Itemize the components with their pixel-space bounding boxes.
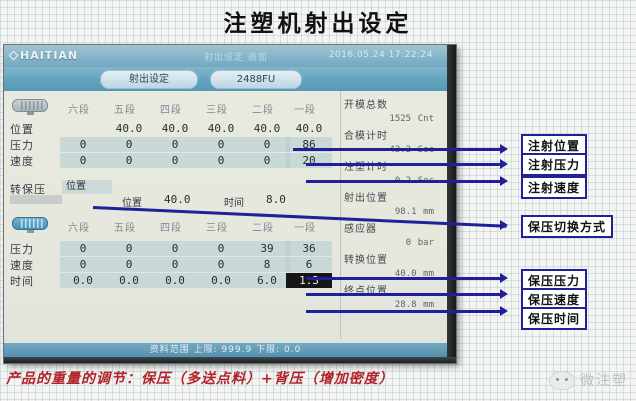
switchover-position-value[interactable]: 40.0 [164, 193, 191, 206]
hold-pressure-cell-5[interactable]: 0 [106, 241, 152, 256]
hold-pressure-cell-4[interactable]: 0 [152, 241, 198, 256]
info-label-1: 合模计时 [344, 127, 444, 142]
haitian-logo: HAITIAN [10, 49, 78, 62]
leader-arrow-6 [500, 306, 508, 316]
hold-speed-cell-2[interactable]: 8 [244, 257, 290, 272]
info-label-5: 转换位置 [344, 251, 444, 266]
leader-line-1 [306, 163, 500, 166]
info-value-0: 1525 Cnt [344, 111, 444, 124]
hold-col-3: 三段 [206, 219, 228, 234]
switchover-mode-select[interactable]: 位置 [62, 180, 112, 194]
leader-line-2 [306, 180, 500, 183]
hold-pressure-cell-2[interactable]: 39 [244, 241, 290, 256]
hold-speed-cell-4[interactable]: 0 [152, 257, 198, 272]
leader-arrow-0 [500, 144, 508, 154]
hold-time-cell-2[interactable]: 6.0 [244, 273, 290, 288]
panel-divider [340, 91, 341, 339]
info-value-3: 98.1 mm [344, 204, 444, 217]
inj-row-label-speed: 速度 [10, 153, 34, 169]
leader-line-0 [293, 148, 500, 151]
leader-line-4 [306, 277, 500, 280]
bottom-caption: 产品的重量的调节：保压（多送点料）+背压（增加密度） [6, 368, 394, 388]
inj-pressure-cell-4[interactable]: 0 [152, 137, 198, 152]
inj-position-cell-1[interactable]: 40.0 [286, 121, 332, 136]
callout-injection-pressure: 注射压力 [521, 153, 587, 176]
callout-holding-switchover-mode: 保压切换方式 [521, 215, 613, 238]
hold-row-label-pressure: 压力 [10, 241, 34, 257]
leader-line-6 [306, 310, 500, 313]
leader-arrow-2 [500, 176, 508, 186]
inj-col-3: 三段 [206, 101, 228, 116]
tab-injection-settings[interactable]: 射出设定 [100, 70, 198, 89]
inj-speed-cell-4[interactable]: 0 [152, 153, 198, 168]
inj-position-cell-4[interactable]: 40.0 [152, 121, 198, 136]
inj-col-6: 六段 [68, 101, 90, 116]
info-value-4: 0 bar [344, 235, 444, 248]
hold-speed-cell-6[interactable]: 0 [60, 257, 106, 272]
screen-bezel-bottom [4, 357, 456, 363]
tab-machine-model[interactable]: 2488FU [210, 70, 302, 89]
inj-pressure-cell-6[interactable]: 0 [60, 137, 106, 152]
leader-arrow-4 [500, 273, 508, 283]
hold-speed-cell-3[interactable]: 0 [198, 257, 244, 272]
inj-speed-cell-6[interactable]: 0 [60, 153, 106, 168]
hmi-content-area: 六段 五段 四段 三段 二段 一段 位置 压力 速度 40.0 40.0 40.… [4, 91, 447, 357]
inj-position-cell-5[interactable]: 40.0 [106, 121, 152, 136]
leader-arrow-5 [500, 289, 508, 299]
callout-injection-speed: 注射速度 [521, 176, 587, 199]
inj-speed-cell-5[interactable]: 0 [106, 153, 152, 168]
info-label-0: 开模总数 [344, 96, 444, 111]
switchover-sub-band [10, 195, 62, 204]
hold-pressure-cell-6[interactable]: 0 [60, 241, 106, 256]
hold-pressure-cell-1[interactable]: 36 [286, 241, 332, 256]
inj-pressure-cell-5[interactable]: 0 [106, 137, 152, 152]
hold-time-cell-4[interactable]: 0.0 [152, 273, 198, 288]
hold-pressure-cell-3[interactable]: 0 [198, 241, 244, 256]
hmi-header-bar: HAITIAN 射出设定 画面 2016.05.24 17:22:24 [4, 45, 447, 67]
watermark: 微注塑 [549, 370, 628, 390]
hold-col-2: 二段 [252, 219, 274, 234]
hold-time-cell-5[interactable]: 0.0 [106, 273, 152, 288]
inj-position-cell-3[interactable]: 40.0 [198, 121, 244, 136]
diamond-logo-icon [9, 51, 19, 61]
leader-arrow-1 [500, 159, 508, 169]
inj-row-label-position: 位置 [10, 121, 34, 137]
screw-barrel-icon-active [12, 217, 48, 230]
hold-time-cell-3[interactable]: 0.0 [198, 273, 244, 288]
status-bar: 资料范围 上限: 999.9 下限: 0.0 [4, 343, 447, 357]
inj-position-cell-2[interactable]: 40.0 [244, 121, 290, 136]
info-label-3: 射出位置 [344, 189, 444, 204]
screen-bezel-right [447, 45, 456, 363]
hmi-screen-photo: HAITIAN 射出设定 画面 2016.05.24 17:22:24 射出设定… [4, 45, 456, 363]
hmi-tab-bar: 射出设定 2488FU [4, 67, 447, 91]
page-title: 注塑机射出设定 [0, 4, 636, 38]
hold-speed-cell-1[interactable]: 6 [286, 257, 332, 272]
inj-speed-cell-2[interactable]: 0 [244, 153, 290, 168]
leader-arrow-3 [500, 220, 508, 230]
hold-row-label-time: 时间 [10, 273, 34, 289]
header-datetime: 2016.05.24 17:22:24 [329, 50, 433, 60]
callout-holding-time: 保压时间 [521, 307, 587, 330]
info-value-6: 28.8 mm [344, 297, 444, 310]
inj-position-cell-6[interactable] [60, 121, 106, 136]
leader-line-5 [306, 293, 500, 296]
hold-col-4: 四段 [160, 219, 182, 234]
hold-time-cell-1-selected[interactable]: 1.3 [286, 273, 332, 288]
watermark-text: 微注塑 [580, 370, 628, 390]
inj-col-5: 五段 [114, 101, 136, 116]
switchover-time-value[interactable]: 8.0 [266, 193, 286, 206]
hold-col-5: 五段 [114, 219, 136, 234]
switchover-time-label: 时间 [224, 194, 244, 209]
inj-speed-cell-3[interactable]: 0 [198, 153, 244, 168]
inj-pressure-cell-3[interactable]: 0 [198, 137, 244, 152]
page-background: 注塑机射出设定 HAITIAN 射出设定 画面 2016.05.24 17:22… [0, 0, 636, 401]
inj-col-4: 四段 [160, 101, 182, 116]
inj-col-2: 二段 [252, 101, 274, 116]
inj-col-1: 一段 [294, 101, 316, 116]
inj-pressure-cell-2[interactable]: 0 [244, 137, 290, 152]
header-middle-text: 射出设定 画面 [204, 50, 268, 63]
hold-col-6: 六段 [68, 219, 90, 234]
hold-speed-cell-5[interactable]: 0 [106, 257, 152, 272]
smiley-face-icon [549, 371, 575, 390]
hold-col-1: 一段 [294, 219, 316, 234]
inj-row-label-pressure: 压力 [10, 137, 34, 153]
hold-row-label-speed: 速度 [10, 257, 34, 273]
hold-time-cell-6[interactable]: 0.0 [60, 273, 106, 288]
screw-barrel-icon [12, 99, 48, 112]
